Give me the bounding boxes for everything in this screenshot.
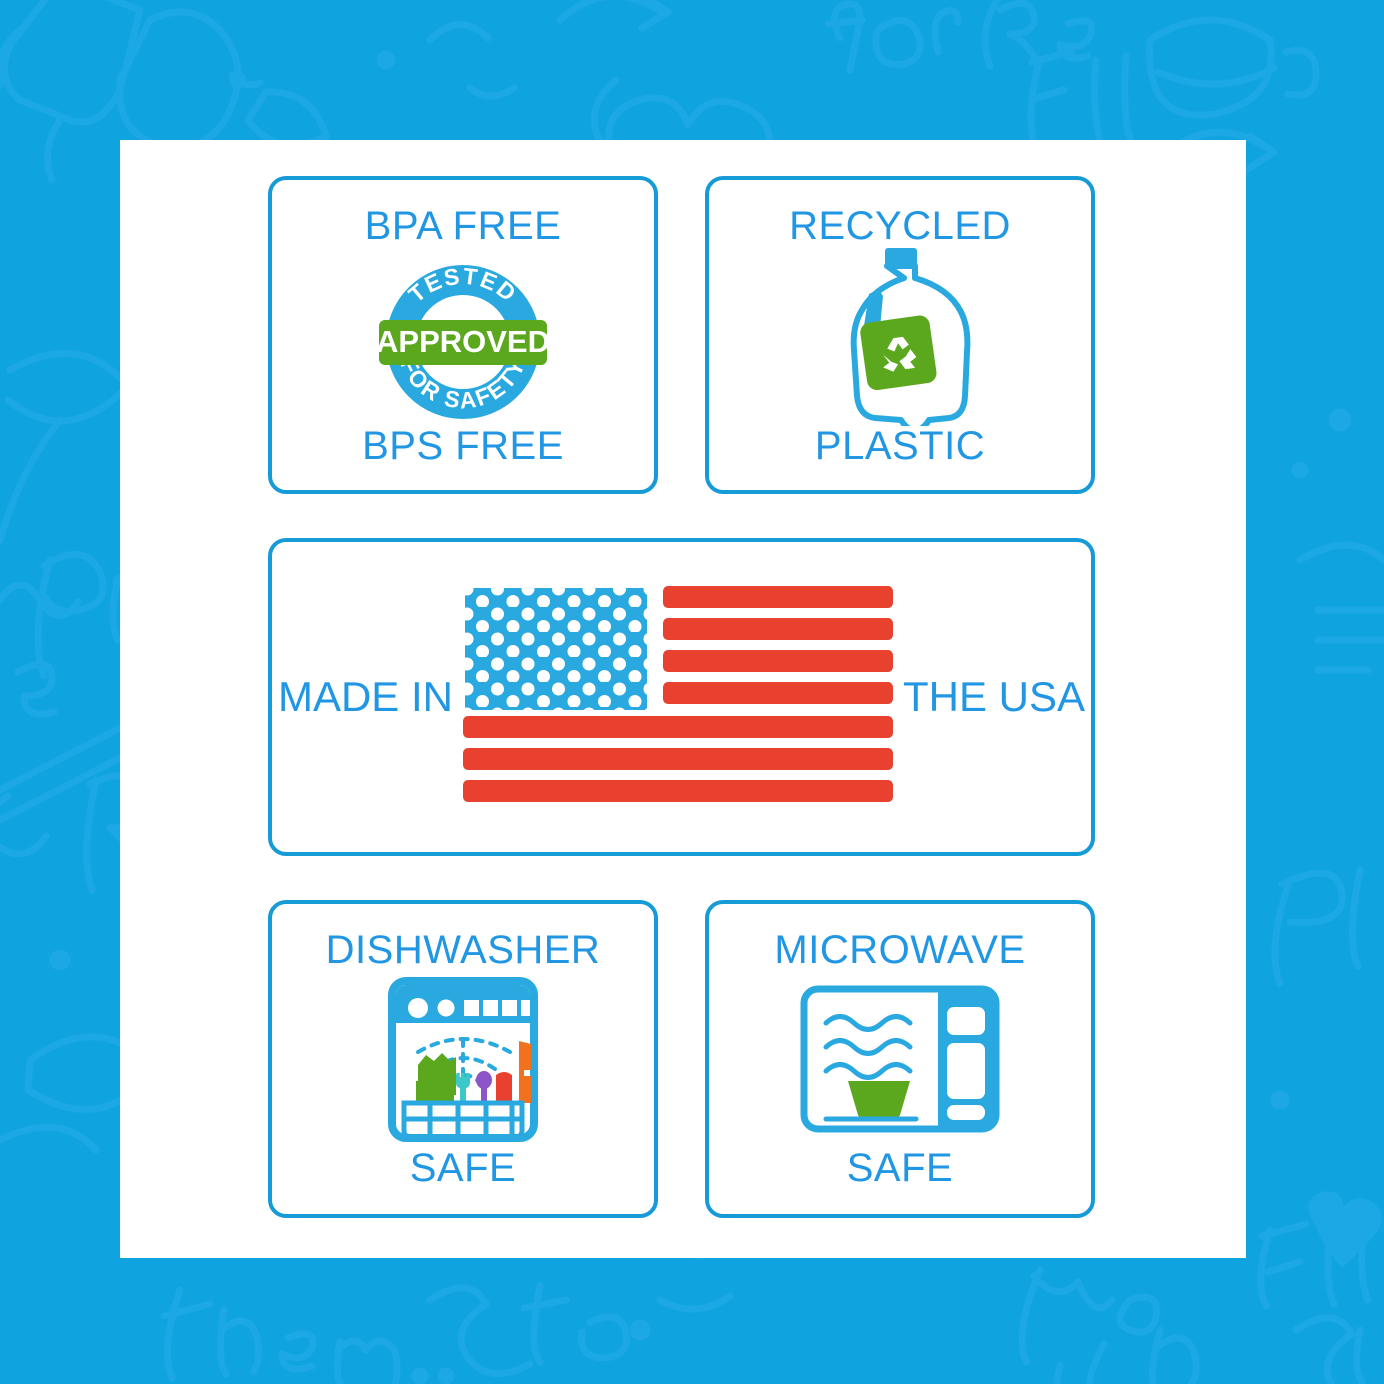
the-usa-text: THE USA	[903, 676, 1085, 718]
recycled-label-bottom: PLASTIC	[815, 426, 985, 466]
card-made-in-usa[interactable]: MADE IN	[268, 538, 1095, 856]
microwave-icon	[800, 970, 1000, 1148]
seal-banner-text: APPROVED	[376, 324, 550, 359]
card-recycled-plastic[interactable]: RECYCLED	[705, 176, 1095, 494]
dishwasher-icon	[388, 970, 538, 1148]
recycled-label-top: RECYCLED	[789, 206, 1011, 246]
milk-jug-icon	[815, 246, 985, 426]
card-dishwasher-safe[interactable]: DISHWASHER	[268, 900, 658, 1218]
bpa-label-top: BPA FREE	[365, 206, 562, 246]
microwave-label-bottom: SAFE	[847, 1148, 953, 1188]
card-microwave-safe[interactable]: MICROWAVE S	[705, 900, 1095, 1218]
content-panel: BPA FREE TESTED FOR SAFETY APPROVED	[120, 140, 1246, 1258]
approved-seal-icon: TESTED FOR SAFETY APPROVED	[363, 246, 563, 426]
usa-flag-icon	[459, 582, 897, 812]
microwave-label-top: MICROWAVE	[774, 930, 1025, 970]
dishwasher-label-top: DISHWASHER	[326, 930, 601, 970]
dishwasher-label-bottom: SAFE	[410, 1148, 516, 1188]
card-bpa-free[interactable]: BPA FREE TESTED FOR SAFETY APPROVED	[268, 176, 658, 494]
bpa-label-bottom: BPS FREE	[362, 426, 564, 466]
made-in-text: MADE IN	[278, 676, 453, 718]
